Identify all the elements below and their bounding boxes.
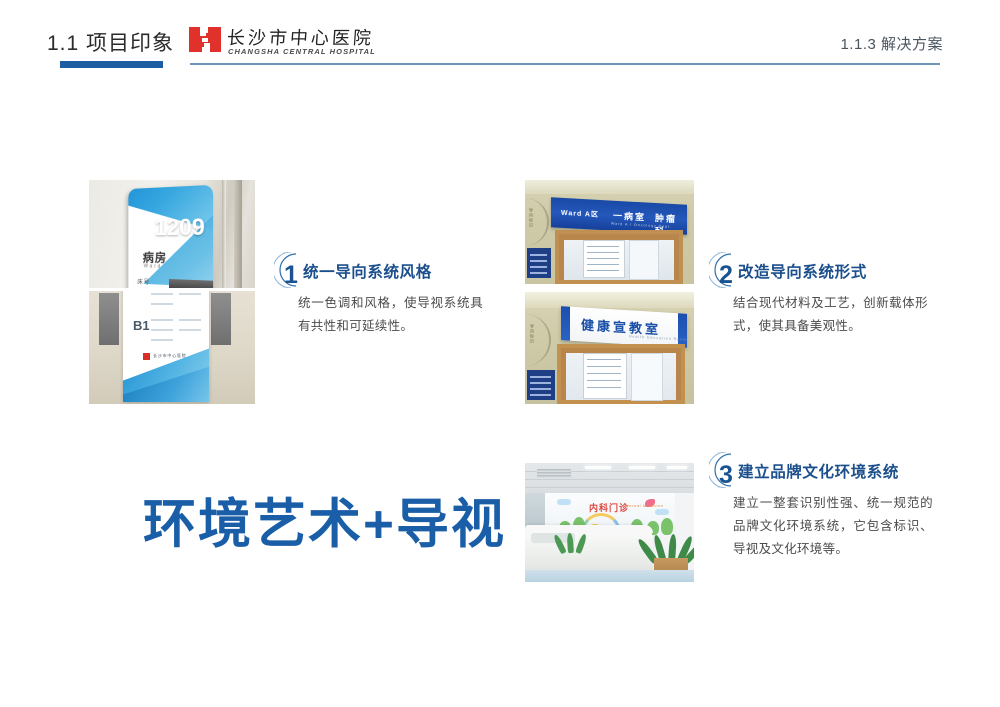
page-title: 1.1 项目印象 [47, 27, 174, 57]
feature-item-3-title: 建立品牌文化环境系统 [738, 460, 899, 482]
sign-panel: 1209 病房 Ward 床号 [128, 185, 213, 288]
directory-floor-label: B1 [133, 318, 150, 333]
feature-item-1-title: 统一导向系统风格 [303, 260, 432, 282]
feature-item-2-title: 改造导向系统形式 [738, 260, 867, 282]
feature-item-3-body: 建立一整套识别性强、统一规范的品牌文化环境系统，它包含标识、导视及文化环境等。 [733, 492, 933, 561]
feature-item-1-header: 1 统一导向系统风格 [274, 258, 489, 288]
feature-item-2: 2 改造导向系统形式 结合现代材料及工艺，创新载体形式，使其具备美观性。 [709, 258, 931, 288]
feature-item-1: 1 统一导向系统风格 统一色调和风格，使导视系统具有共性和可延续性。 [274, 258, 489, 288]
hospital-name-en: CHANGSHA CENTRAL HOSPITAL [228, 47, 376, 56]
hospital-logo: 长沙市中心医院 CHANGSHA CENTRAL HOSPITAL [189, 22, 354, 64]
slide-headline: 环境艺术+导视 [143, 482, 506, 558]
education-sign-band: 健康宣教室 Health Education Room [561, 306, 687, 348]
photo-lobby-floor-directory: B1 长沙市中心医院 [89, 291, 255, 404]
department-sign-zone: Ward A区 [561, 208, 599, 220]
reception-counter [525, 525, 653, 571]
feature-item-1-body: 统一色调和风格，使导视系统具有共性和可延续性。 [298, 292, 483, 338]
directory-logo-text: 长沙市中心医院 [153, 353, 187, 359]
sign-label-bed: 床号 [137, 277, 150, 286]
feature-item-3: 3 建立品牌文化环境系统 建立一整套识别性强、统一规范的品牌文化环境系统，它包含… [709, 458, 937, 488]
photo-clinic-culture-wall: 内科门诊 Internal Medicine [525, 463, 694, 582]
slide-header: 1.1 项目印象 1.1.3 解决方案 长沙市中心医院 CHANGSHA CEN… [0, 0, 1000, 80]
hospital-logo-mark-icon [189, 27, 221, 52]
photo-ward-room-number-sign: 1209 病房 Ward 床号 [89, 180, 255, 288]
feature-item-3-number: 3 [719, 460, 733, 490]
feature-item-2-number: 2 [719, 260, 733, 290]
header-accent-rule-thick [60, 61, 163, 68]
photo-health-education-room-sign: 导向标识 健康宣教室 Health Education Room [525, 292, 694, 404]
feature-item-2-header: 2 改造导向系统形式 [709, 258, 931, 288]
directory-board: B1 长沙市中心医院 [123, 291, 209, 402]
feature-item-2-body: 结合现代材料及工艺，创新载体形式，使其具备美观性。 [733, 292, 928, 338]
sign-room-number: 1209 [155, 213, 205, 241]
breadcrumb-subsection: 1.1.3 解决方案 [840, 33, 943, 54]
feature-item-1-number: 1 [284, 260, 298, 290]
photo-department-door-sign: 导向标识 Ward A区 一病室 肿瘤科 Ward A / Oncology D… [525, 180, 694, 284]
feature-item-3-header: 3 建立品牌文化环境系统 [709, 458, 937, 488]
sign-label-en: Ward [144, 263, 162, 269]
culture-wall-subtitle: Internal Medicine [623, 503, 664, 508]
